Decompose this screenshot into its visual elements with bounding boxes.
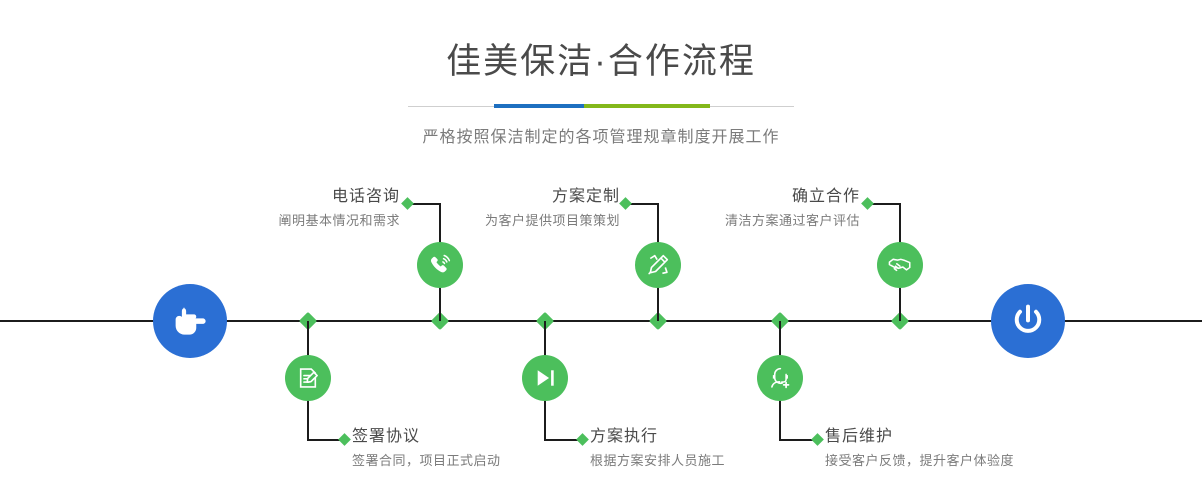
step-title-6: 售后维护 bbox=[825, 428, 1185, 446]
page-subtitle: 严格按照保洁制定的各项管理规章制度开展工作 bbox=[0, 123, 1202, 147]
step-icon-2[interactable] bbox=[285, 355, 331, 401]
step-icon-6[interactable] bbox=[757, 355, 803, 401]
connector-elbow-2 bbox=[308, 439, 342, 441]
header: 佳美保洁·合作流程 严格按照保洁制定的各项管理规章制度开展工作 bbox=[0, 0, 1202, 147]
phone-call-icon bbox=[427, 252, 453, 278]
pencil-ruler-icon bbox=[645, 252, 671, 278]
divider-segment-blue bbox=[494, 104, 584, 108]
title-divider bbox=[408, 101, 794, 113]
step-label-5: 确立合作 清洁方案通过客户评估 bbox=[560, 188, 860, 229]
connector-stem-5-upper bbox=[899, 203, 901, 243]
connector-stem-4 bbox=[544, 321, 546, 357]
start-endpoint-pointing-hand[interactable] bbox=[153, 284, 227, 358]
customer-support-icon bbox=[767, 365, 793, 391]
end-endpoint-power[interactable] bbox=[991, 284, 1065, 358]
connector-stem-2-lower bbox=[307, 399, 309, 441]
divider-segment-green bbox=[584, 104, 710, 108]
power-icon bbox=[1008, 301, 1048, 341]
pointing-hand-icon bbox=[170, 301, 210, 341]
document-edit-icon bbox=[295, 365, 321, 391]
connector-stem-6 bbox=[779, 321, 781, 357]
step-icon-5[interactable] bbox=[877, 242, 923, 288]
step-label-6: 售后维护 接受客户反馈，提升客户体验度 bbox=[825, 428, 1185, 469]
step-desc-6: 接受客户反馈，提升客户体验度 bbox=[825, 453, 1185, 469]
step-icon-3[interactable] bbox=[635, 242, 681, 288]
step-marker-5 bbox=[861, 197, 874, 210]
connector-stem-2 bbox=[307, 321, 309, 357]
step-desc-5: 清洁方案通过客户评估 bbox=[560, 213, 860, 229]
handshake-icon bbox=[887, 252, 913, 278]
process-flow-infographic: 佳美保洁·合作流程 严格按照保洁制定的各项管理规章制度开展工作 bbox=[0, 0, 1202, 502]
play-next-icon bbox=[532, 365, 558, 391]
step-title-5: 确立合作 bbox=[560, 188, 860, 206]
step-icon-4[interactable] bbox=[522, 355, 568, 401]
step-marker-2 bbox=[338, 433, 351, 446]
page-title: 佳美保洁·合作流程 bbox=[0, 0, 1202, 79]
step-icon-1[interactable] bbox=[417, 242, 463, 288]
